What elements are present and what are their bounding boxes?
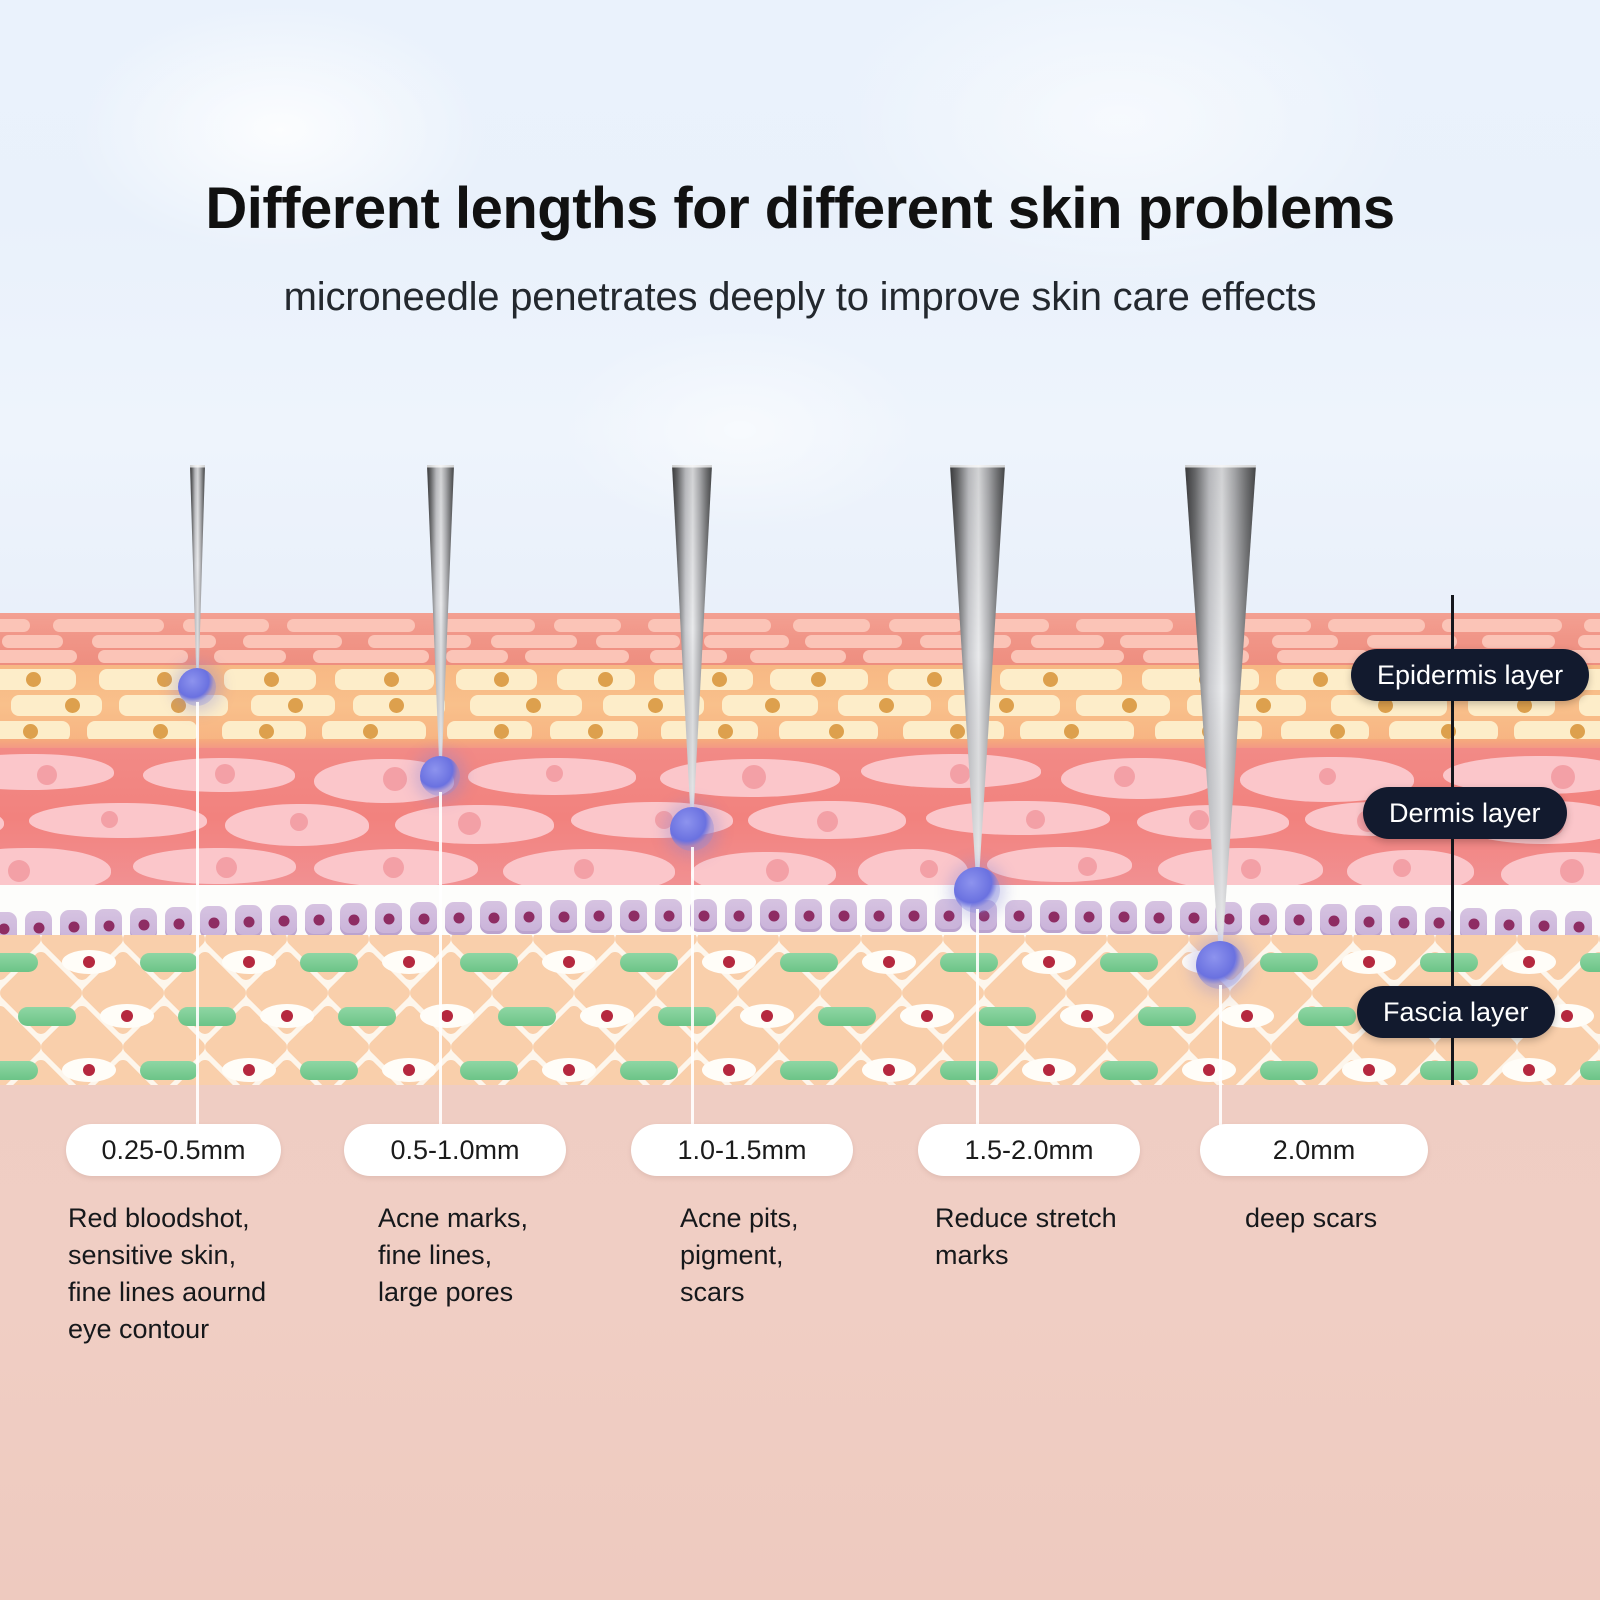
fascia-dot	[1043, 1064, 1055, 1076]
needle-length-text-5: 2.0mm	[1273, 1135, 1356, 1166]
needle-indication-2: Acne marks, fine lines, large pores	[378, 1200, 628, 1311]
fascia-lens	[1060, 1004, 1114, 1028]
corneum-brick	[1578, 635, 1600, 648]
needle-length-pill-5: 2.0mm	[1200, 1124, 1428, 1176]
basal-nucleus	[313, 915, 324, 926]
fascia-lens	[222, 1058, 276, 1082]
basal-cell	[900, 899, 927, 932]
fascia-dot	[723, 956, 735, 968]
fascia-fiber	[818, 1007, 876, 1026]
fascia-lens	[1342, 1058, 1396, 1082]
dermis-nucleus	[383, 857, 404, 878]
fascia-lens	[62, 950, 116, 974]
basal-nucleus	[628, 911, 639, 922]
dermis-nucleus	[546, 765, 563, 782]
fascia-lens	[260, 1004, 314, 1028]
basal-nucleus	[838, 910, 849, 921]
basal-cell	[515, 901, 542, 934]
fascia-dot	[1561, 1010, 1573, 1022]
basal-nucleus	[1258, 914, 1269, 925]
basal-cell	[725, 899, 752, 932]
fascia-lens	[862, 1058, 916, 1082]
epidermis-nucleus	[23, 724, 38, 739]
fascia-lens	[702, 1058, 756, 1082]
fascia-fiber	[1100, 953, 1158, 972]
fascia-fiber	[1138, 1007, 1196, 1026]
corneum-brick	[554, 619, 621, 632]
fascia-fiber	[178, 1007, 236, 1026]
layer-label-epidermis: Epidermis layer	[1351, 649, 1589, 701]
corneum-brick	[0, 650, 77, 663]
fascia-dot	[1523, 1064, 1535, 1076]
fascia-dot	[723, 1064, 735, 1076]
epidermis-cell	[557, 669, 635, 690]
corneum-brick	[1482, 635, 1555, 648]
fascia-dot	[1203, 1064, 1215, 1076]
dermis-nucleus	[101, 811, 118, 828]
penetration-depth-marker-4	[954, 867, 1000, 913]
fascia-fiber	[0, 1061, 38, 1080]
dermis-nucleus	[920, 860, 938, 878]
microneedle-5	[1181, 465, 1260, 965]
fascia-lens	[542, 950, 596, 974]
layer-label-fascia-text: Fascia layer	[1383, 997, 1529, 1028]
fascia-dot	[243, 956, 255, 968]
basal-cell	[1320, 904, 1347, 937]
basal-nucleus	[173, 918, 184, 929]
fascia-dot	[1081, 1010, 1093, 1022]
epidermis-nucleus	[153, 724, 168, 739]
epidermis-nucleus	[648, 698, 663, 713]
dermis-nucleus	[37, 765, 57, 785]
corneum-brick	[1584, 619, 1600, 632]
layer-label-dermis-text: Dermis layer	[1389, 798, 1541, 829]
basal-nucleus	[1118, 912, 1129, 923]
leader-line-1	[196, 702, 199, 1128]
needle-length-text-1: 0.25-0.5mm	[101, 1135, 245, 1166]
dermis-nucleus	[216, 857, 237, 878]
epidermis-nucleus	[1122, 698, 1137, 713]
fascia-dot	[883, 956, 895, 968]
layer-label-fascia: Fascia layer	[1357, 986, 1555, 1038]
fascia-dot	[1043, 956, 1055, 968]
basal-nucleus	[1468, 919, 1479, 930]
epidermis-cell	[11, 695, 102, 716]
fascia-fiber	[18, 1007, 76, 1026]
basal-nucleus	[208, 917, 219, 928]
corneum-brick	[313, 650, 429, 663]
fascia-fiber	[460, 1061, 518, 1080]
fascia-fiber	[658, 1007, 716, 1026]
basal-nucleus	[908, 910, 919, 921]
fascia-lens	[100, 1004, 154, 1028]
leader-line-2	[439, 792, 442, 1128]
fascia-lens	[62, 1058, 116, 1082]
basal-nucleus	[278, 916, 289, 927]
basal-nucleus	[768, 910, 779, 921]
fascia-fiber	[940, 1061, 998, 1080]
fascia-fiber	[1298, 1007, 1356, 1026]
epidermis-nucleus	[526, 698, 541, 713]
basal-cell	[305, 904, 332, 937]
microneedle-3	[668, 465, 716, 829]
corneum-brick	[214, 650, 286, 663]
basal-cell	[1005, 900, 1032, 933]
corneum-brick	[1076, 619, 1173, 632]
fascia-fiber	[1580, 953, 1600, 972]
basal-nucleus	[523, 912, 534, 923]
fascia-dot	[563, 956, 575, 968]
fascia-dot	[921, 1010, 933, 1022]
basal-cell	[270, 905, 297, 938]
dermis-nucleus	[1393, 859, 1411, 877]
basal-nucleus	[33, 922, 44, 933]
fascia-dot	[121, 1010, 133, 1022]
basal-cell	[1075, 901, 1102, 934]
corneum-brick	[1328, 619, 1425, 632]
dermis-nucleus	[458, 812, 481, 835]
epidermis-nucleus	[363, 724, 378, 739]
basal-cell	[1285, 904, 1312, 937]
needle-indication-1: Red bloodshot, sensitive skin, fine line…	[68, 1200, 338, 1348]
epidermis-nucleus	[157, 672, 172, 687]
fascia-dot	[761, 1010, 773, 1022]
epidermis-nucleus	[598, 672, 613, 687]
needle-length-text-2: 0.5-1.0mm	[390, 1135, 519, 1166]
fascia-lens	[382, 1058, 436, 1082]
microneedle-1	[186, 465, 209, 687]
basal-nucleus	[1363, 916, 1374, 927]
dermis-cell	[0, 754, 114, 790]
fascia-dot	[601, 1010, 613, 1022]
basal-cell	[235, 905, 262, 938]
basal-cell	[445, 902, 472, 935]
basal-nucleus	[1013, 911, 1024, 922]
basal-nucleus	[1293, 915, 1304, 926]
basal-nucleus	[1503, 920, 1514, 931]
fascia-lens	[1220, 1004, 1274, 1028]
needle-length-pill-1: 0.25-0.5mm	[66, 1124, 281, 1176]
dermis-cell	[29, 803, 207, 838]
layer-label-epidermis-text: Epidermis layer	[1377, 660, 1563, 691]
basal-nucleus	[1573, 922, 1584, 933]
basal-nucleus	[103, 920, 114, 931]
basal-nucleus	[1083, 912, 1094, 923]
basal-nucleus	[383, 914, 394, 925]
needle-length-pill-3: 1.0-1.5mm	[631, 1124, 853, 1176]
corneum-brick	[0, 619, 30, 632]
basal-nucleus	[1433, 918, 1444, 929]
microneedle-4	[946, 465, 1009, 890]
fascia-dot	[441, 1010, 453, 1022]
epidermis-nucleus	[26, 672, 41, 687]
fascia-lens	[862, 950, 916, 974]
fascia-lens	[740, 1004, 794, 1028]
needle-indication-3: Acne pits, pigment, scars	[680, 1200, 920, 1311]
fascia-fiber	[620, 1061, 678, 1080]
leader-line-3	[691, 847, 694, 1128]
epidermis-nucleus	[879, 698, 894, 713]
fascia-fiber	[300, 953, 358, 972]
fascia-lens	[222, 950, 276, 974]
fascia-fiber	[1420, 1061, 1478, 1080]
corneum-brick	[704, 635, 789, 648]
dermis-nucleus	[8, 860, 30, 882]
fascia-fiber	[140, 953, 198, 972]
fascia-fiber	[300, 1061, 358, 1080]
layer-label-dermis: Dermis layer	[1363, 787, 1567, 839]
fascia-fiber	[978, 1007, 1036, 1026]
basal-nucleus	[873, 910, 884, 921]
fascia-dot	[403, 956, 415, 968]
fascia-dot	[883, 1064, 895, 1076]
penetration-depth-marker-3	[670, 807, 714, 851]
epidermis-cell	[1579, 695, 1600, 716]
basal-nucleus	[593, 911, 604, 922]
basal-cell	[550, 900, 577, 933]
basal-nucleus	[803, 910, 814, 921]
basal-nucleus	[1153, 912, 1164, 923]
leader-line-5	[1219, 985, 1222, 1128]
basal-cell	[1110, 901, 1137, 934]
fascia-fiber	[0, 953, 38, 972]
fascia-fiber	[1420, 953, 1478, 972]
fascia-lens	[1182, 1058, 1236, 1082]
basal-nucleus	[418, 913, 429, 924]
basal-cell	[795, 899, 822, 932]
fascia-lens	[420, 1004, 474, 1028]
epidermis-cell	[1000, 669, 1122, 690]
fascia-dot	[1241, 1010, 1253, 1022]
basal-cell	[655, 899, 682, 932]
basal-nucleus	[733, 910, 744, 921]
fascia-lens	[382, 950, 436, 974]
dermis-layer	[0, 748, 1600, 889]
fascia-dot	[1363, 1064, 1375, 1076]
fascia-dot	[1363, 956, 1375, 968]
corneum-brick	[1442, 619, 1562, 632]
dermis-nucleus	[574, 859, 594, 879]
basal-cell	[865, 899, 892, 932]
corneum-brick	[53, 619, 164, 632]
infographic-root: Different lengths for different skin pro…	[0, 0, 1600, 1600]
needle-length-text-3: 1.0-1.5mm	[677, 1135, 806, 1166]
epidermis-nucleus	[1313, 672, 1328, 687]
basal-cell	[1040, 900, 1067, 933]
basal-nucleus	[0, 923, 9, 934]
needle-length-pill-2: 0.5-1.0mm	[344, 1124, 566, 1176]
dermis-nucleus	[1114, 766, 1135, 787]
basal-cell	[585, 900, 612, 933]
fascia-lens	[900, 1004, 954, 1028]
basal-nucleus	[488, 912, 499, 923]
fascia-dot	[243, 1064, 255, 1076]
corneum-brick	[1031, 635, 1104, 648]
needle-length-pill-4: 1.5-2.0mm	[918, 1124, 1140, 1176]
fascia-fiber	[780, 1061, 838, 1080]
fascia-fiber	[1260, 1061, 1318, 1080]
fascia-lens	[1022, 950, 1076, 974]
penetration-depth-marker-1	[178, 668, 216, 706]
basal-cell	[480, 901, 507, 934]
fascia-lens	[1022, 1058, 1076, 1082]
basal-nucleus	[453, 913, 464, 924]
basal-cell	[760, 899, 787, 932]
penetration-depth-marker-5	[1196, 941, 1244, 989]
basal-nucleus	[698, 910, 709, 921]
dermis-nucleus	[1319, 768, 1336, 785]
basal-nucleus	[68, 921, 79, 932]
fascia-lens	[702, 950, 756, 974]
basal-nucleus	[1328, 915, 1339, 926]
basal-nucleus	[558, 911, 569, 922]
dermis-cell	[987, 847, 1132, 882]
basal-nucleus	[1538, 921, 1549, 932]
corneum-brick	[1272, 635, 1338, 648]
dermis-cell	[133, 848, 296, 884]
basal-nucleus	[243, 916, 254, 927]
basal-cell	[1355, 905, 1382, 938]
fascia-dot	[1523, 956, 1535, 968]
corneum-brick	[805, 635, 902, 648]
dermis-cell	[0, 806, 4, 840]
corneum-brick	[1367, 635, 1457, 648]
fascia-fiber	[140, 1061, 198, 1080]
penetration-depth-marker-2	[420, 756, 460, 796]
fascia-fiber	[940, 953, 998, 972]
fascia-fiber	[338, 1007, 396, 1026]
epidermis-nucleus	[264, 672, 279, 687]
dermis-nucleus	[290, 813, 308, 831]
fascia-dot	[281, 1010, 293, 1022]
epidermis-nucleus	[288, 698, 303, 713]
corneum-brick	[491, 635, 577, 648]
fascia-dot	[563, 1064, 575, 1076]
page-subtitle: microneedle penetrates deeply to improve…	[0, 275, 1600, 320]
basal-cell	[1145, 901, 1172, 934]
fascia-lens	[1502, 1058, 1556, 1082]
basal-nucleus	[663, 910, 674, 921]
dermis-nucleus	[1560, 859, 1584, 883]
corneum-brick	[750, 650, 846, 663]
basal-cell	[690, 899, 717, 932]
leader-line-4	[976, 909, 979, 1128]
basal-cell	[620, 900, 647, 933]
needle-indication-5: deep scars	[1245, 1200, 1475, 1237]
corneum-brick	[98, 650, 188, 663]
basal-nucleus	[1048, 911, 1059, 922]
basal-cell	[935, 899, 962, 932]
corneum-brick	[793, 619, 870, 632]
fascia-fiber	[620, 953, 678, 972]
needle-indication-4: Reduce stretch marks	[935, 1200, 1185, 1274]
fascia-dot	[403, 1064, 415, 1076]
basal-cell	[410, 902, 437, 935]
basal-nucleus	[348, 914, 359, 925]
fascia-lens	[1342, 950, 1396, 974]
fascia-fiber	[1580, 1061, 1600, 1080]
epidermis-nucleus	[384, 672, 399, 687]
basal-nucleus	[943, 910, 954, 921]
epidermis-nucleus	[1570, 724, 1585, 739]
fascia-dot	[83, 1064, 95, 1076]
fascia-fiber	[780, 953, 838, 972]
basal-nucleus	[1398, 917, 1409, 928]
microneedle-2	[423, 465, 458, 776]
corneum-brick	[525, 650, 629, 663]
epidermis-nucleus	[389, 698, 404, 713]
fascia-fiber	[498, 1007, 556, 1026]
fascia-fiber	[1260, 953, 1318, 972]
corneum-brick	[243, 635, 342, 648]
fascia-lens	[542, 1058, 596, 1082]
fascia-fiber	[460, 953, 518, 972]
fascia-lens	[1502, 950, 1556, 974]
page-title: Different lengths for different skin pro…	[0, 175, 1600, 242]
fascia-dot	[83, 956, 95, 968]
dermis-nucleus	[1078, 857, 1097, 876]
needle-length-text-4: 1.5-2.0mm	[964, 1135, 1093, 1166]
corneum-brick	[1011, 650, 1124, 663]
basal-cell	[340, 903, 367, 936]
epidermis-nucleus	[1330, 724, 1345, 739]
basal-cell	[830, 899, 857, 932]
fascia-lens	[580, 1004, 634, 1028]
basal-nucleus	[138, 919, 149, 930]
corneum-brick	[287, 619, 415, 632]
epidermis-nucleus	[494, 724, 509, 739]
fascia-fiber	[1100, 1061, 1158, 1080]
corneum-brick	[2, 635, 63, 648]
basal-cell	[375, 903, 402, 936]
